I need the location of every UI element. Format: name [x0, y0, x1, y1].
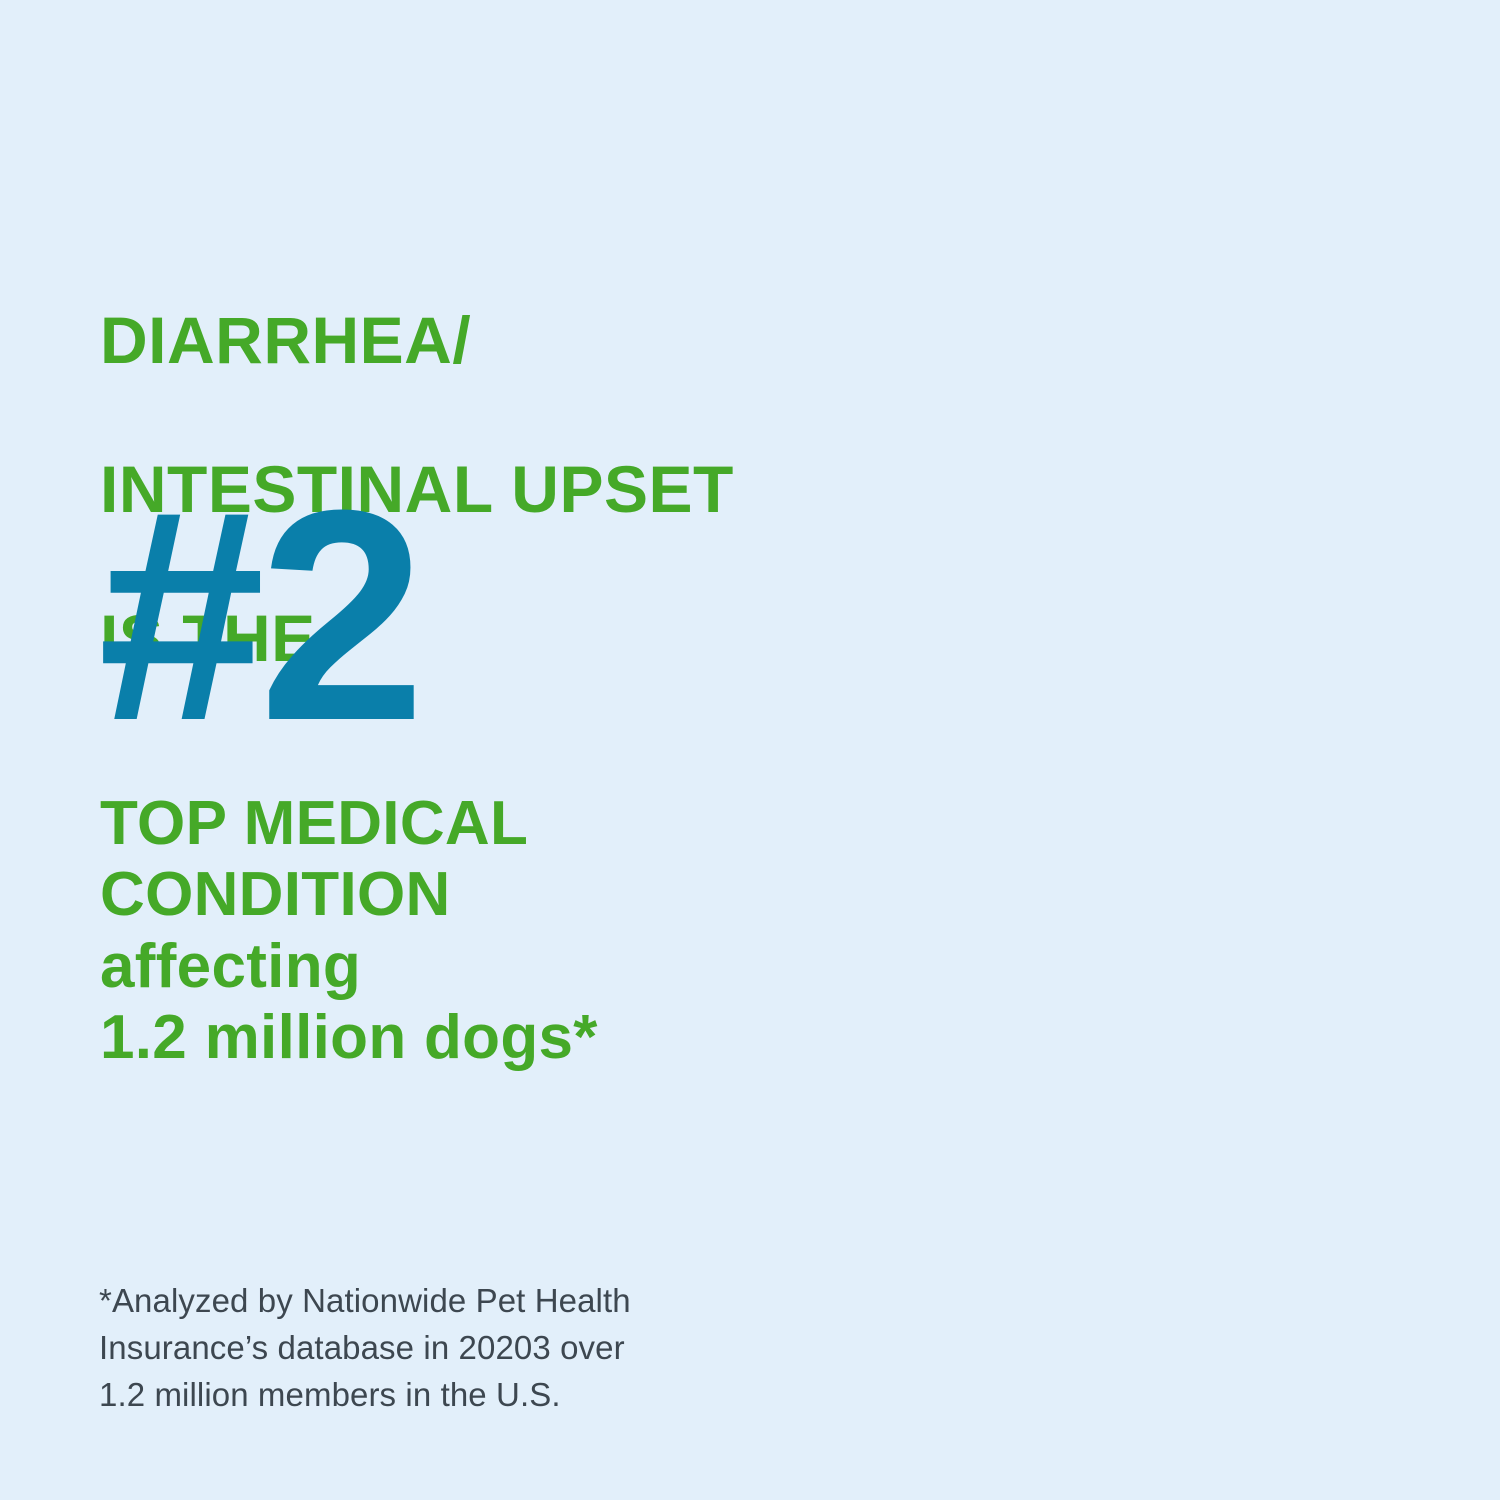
rank-number: #2: [98, 468, 420, 762]
footnote-line-3: 1.2 million members in the U.S.: [99, 1372, 631, 1419]
subhead-line-2: CONDITION: [100, 859, 598, 930]
subhead-line-1: TOP MEDICAL: [100, 788, 598, 859]
subheadline: TOP MEDICAL CONDITION affecting 1.2 mill…: [100, 788, 598, 1073]
headline-line-1: DIARRHEA/: [100, 303, 734, 378]
subhead-line-4: 1.2 million dogs*: [100, 1002, 598, 1073]
footnote-source: *Analyzed by Nationwide Pet Health Insur…: [99, 1278, 631, 1419]
footnote-line-1: *Analyzed by Nationwide Pet Health: [99, 1278, 631, 1325]
infographic-poster: DIARRHEA/ INTESTINAL UPSET IS THE #2 TOP…: [0, 0, 1500, 1500]
subhead-line-3: affecting: [100, 931, 598, 1002]
footnote-line-2: Insurance’s database in 20203 over: [99, 1325, 631, 1372]
